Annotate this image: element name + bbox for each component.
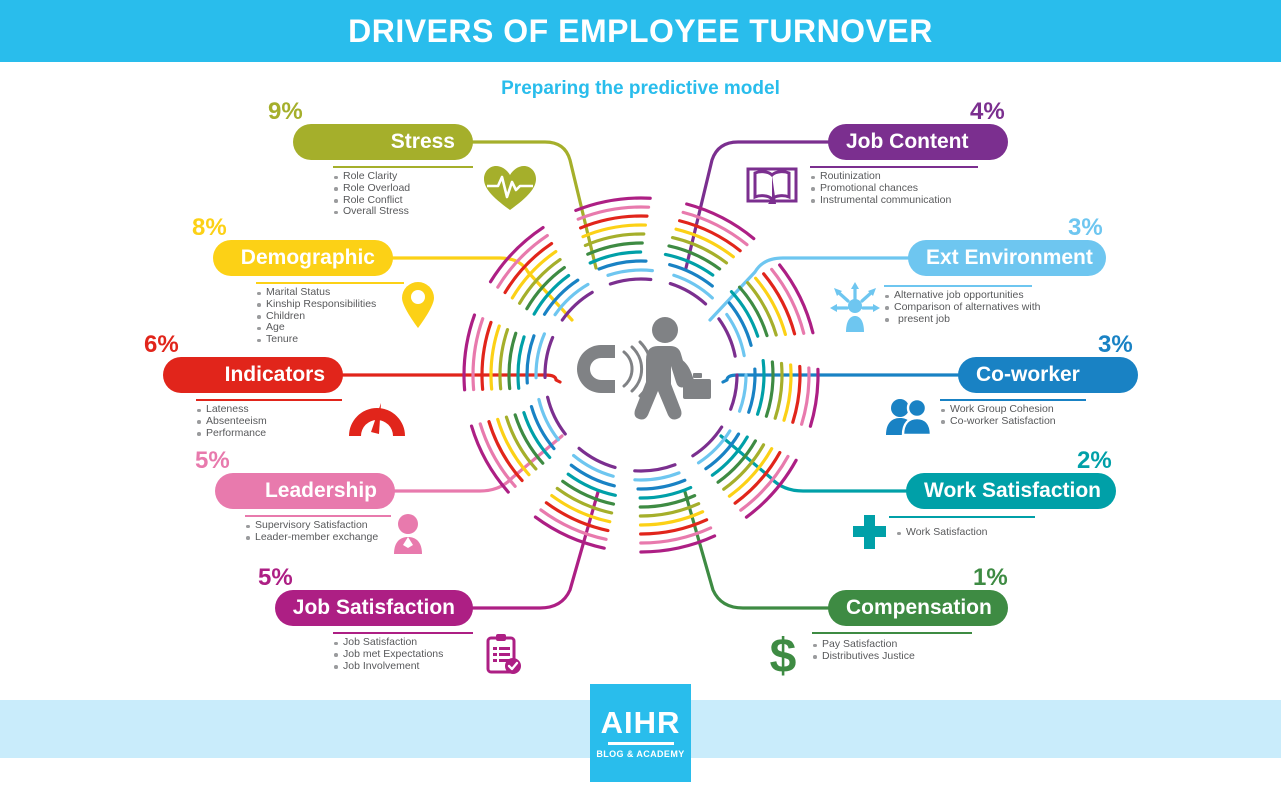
pill-label-stress: Stress <box>391 130 455 154</box>
person-body <box>635 346 689 420</box>
rule-ext-environment <box>884 285 1032 287</box>
rule-indicators <box>196 399 342 401</box>
center-icon-group <box>577 317 711 420</box>
two-people-icon <box>884 397 934 435</box>
heartbeat-icon <box>482 164 538 212</box>
svg-text:$: $ <box>770 630 797 678</box>
bullet-item: Instrumental communication <box>810 195 951 207</box>
rule-stress <box>333 166 473 168</box>
bullets-demographic: Marital Status Kinship Responsibilities … <box>256 287 376 346</box>
bullet-item: Role Overload <box>333 183 410 195</box>
logo-main-text: AIHR <box>601 707 681 738</box>
pill-label-job-satisfaction: Job Satisfaction <box>293 596 455 620</box>
pill-label-co-worker: Co-worker <box>976 363 1080 387</box>
percent-co-worker: 3% <box>1098 331 1133 359</box>
bullet-item: Kinship Responsibilities <box>256 299 376 311</box>
bullets-job-satisfaction: Job Satisfaction Job met Expectations Jo… <box>333 637 443 672</box>
pill-label-leadership: Leadership <box>265 479 377 503</box>
map-pin-icon <box>400 281 436 329</box>
pill-stress[interactable]: Stress <box>293 124 473 160</box>
bullet-item: Job met Expectations <box>333 649 443 661</box>
pill-job-content[interactable]: Job Content <box>828 124 1008 160</box>
percent-job-satisfaction: 5% <box>258 564 293 592</box>
magnet-icon <box>577 345 615 393</box>
percent-compensation: 1% <box>973 564 1008 592</box>
clipboard-check-icon <box>484 632 522 676</box>
rule-job-content <box>810 166 978 168</box>
dollar-icon: $ <box>762 630 804 678</box>
bullet-item: Tenure <box>256 334 376 346</box>
pill-label-job-content: Job Content <box>846 130 968 154</box>
bullet-item: Absenteeism <box>196 416 267 428</box>
bullets-stress: Role Clarity Role Overload Role Conflict… <box>333 171 410 218</box>
pill-label-compensation: Compensation <box>846 596 992 620</box>
bullets-leadership: Supervisory Satisfaction Leader-member e… <box>245 520 378 544</box>
bullet-item: Job Involvement <box>333 661 443 673</box>
pill-label-ext-environment: Ext Environment <box>926 246 1093 270</box>
rule-compensation <box>812 632 972 634</box>
percent-work-satisfaction: 2% <box>1077 447 1112 475</box>
percent-demographic: 8% <box>192 214 227 242</box>
aihr-logo[interactable]: AIHR BLOG & ACADEMY <box>590 684 691 782</box>
pill-compensation[interactable]: Compensation <box>828 590 1008 626</box>
pill-work-satisfaction[interactable]: Work Satisfaction <box>906 473 1116 509</box>
plus-icon <box>851 513 887 551</box>
percent-indicators: 6% <box>144 331 179 359</box>
rule-leadership <box>245 515 391 517</box>
bullet-item: Leader-member exchange <box>245 532 378 544</box>
bullet-item: Promotional chances <box>810 183 951 195</box>
bullet-item: Distributives Justice <box>812 651 915 663</box>
rule-demographic <box>256 282 404 284</box>
gauge-icon <box>347 398 407 438</box>
percent-ext-environment: 3% <box>1068 214 1103 242</box>
connector-indicators <box>325 375 560 382</box>
bullets-indicators: Lateness Absenteeism Performance <box>196 404 267 439</box>
bullet-item: Co-worker Satisfaction <box>940 416 1056 428</box>
pill-label-work-satisfaction: Work Satisfaction <box>924 479 1101 503</box>
pill-label-demographic: Demographic <box>241 246 375 270</box>
bullets-compensation: Pay Satisfaction Distributives Justice <box>812 639 915 663</box>
percent-leadership: 5% <box>195 447 230 475</box>
person-arrows-icon <box>828 282 882 332</box>
connector-diagram <box>0 0 1281 801</box>
logo-sub-text: BLOG & ACADEMY <box>596 749 684 759</box>
pill-ext-environment[interactable]: Ext Environment <box>908 240 1106 276</box>
bullet-item: Overall Stress <box>333 206 410 218</box>
pill-leadership[interactable]: Leadership <box>215 473 395 509</box>
pill-label-indicators: Indicators <box>225 363 325 387</box>
pill-co-worker[interactable]: Co-worker <box>958 357 1138 393</box>
briefcase-icon <box>683 379 711 399</box>
rule-co-worker <box>940 399 1086 401</box>
percent-job-content: 4% <box>970 98 1005 126</box>
pill-demographic[interactable]: Demographic <box>213 240 393 276</box>
pill-indicators[interactable]: Indicators <box>163 357 343 393</box>
bullets-work-satisfaction: Work Satisfaction <box>896 527 988 539</box>
bullets-co-worker: Work Group Cohesion Co-worker Satisfacti… <box>940 404 1056 428</box>
open-book-icon <box>746 166 798 206</box>
bullet-item: Work Satisfaction <box>896 527 988 539</box>
bullet-item-cont: present job <box>884 314 1040 326</box>
manager-person-icon <box>391 514 425 554</box>
person-head <box>652 317 678 343</box>
bullet-item: Comparison of alternatives with <box>884 302 1040 314</box>
connector-leadership <box>377 436 562 491</box>
rule-work-satisfaction <box>889 516 1035 518</box>
connector-coworker <box>723 375 958 382</box>
infographic-canvas: DRIVERS OF EMPLOYEE TURNOVER Preparing t… <box>0 0 1281 801</box>
logo-divider <box>608 742 674 745</box>
bullet-item: Performance <box>196 428 267 440</box>
bullets-job-content: Routinization Promotional chances Instru… <box>810 171 951 206</box>
bullets-ext-environment: Alternative job opportunities Comparison… <box>884 290 1040 325</box>
rule-job-satisfaction <box>333 632 473 634</box>
pill-job-satisfaction[interactable]: Job Satisfaction <box>275 590 473 626</box>
percent-stress: 9% <box>268 98 303 126</box>
